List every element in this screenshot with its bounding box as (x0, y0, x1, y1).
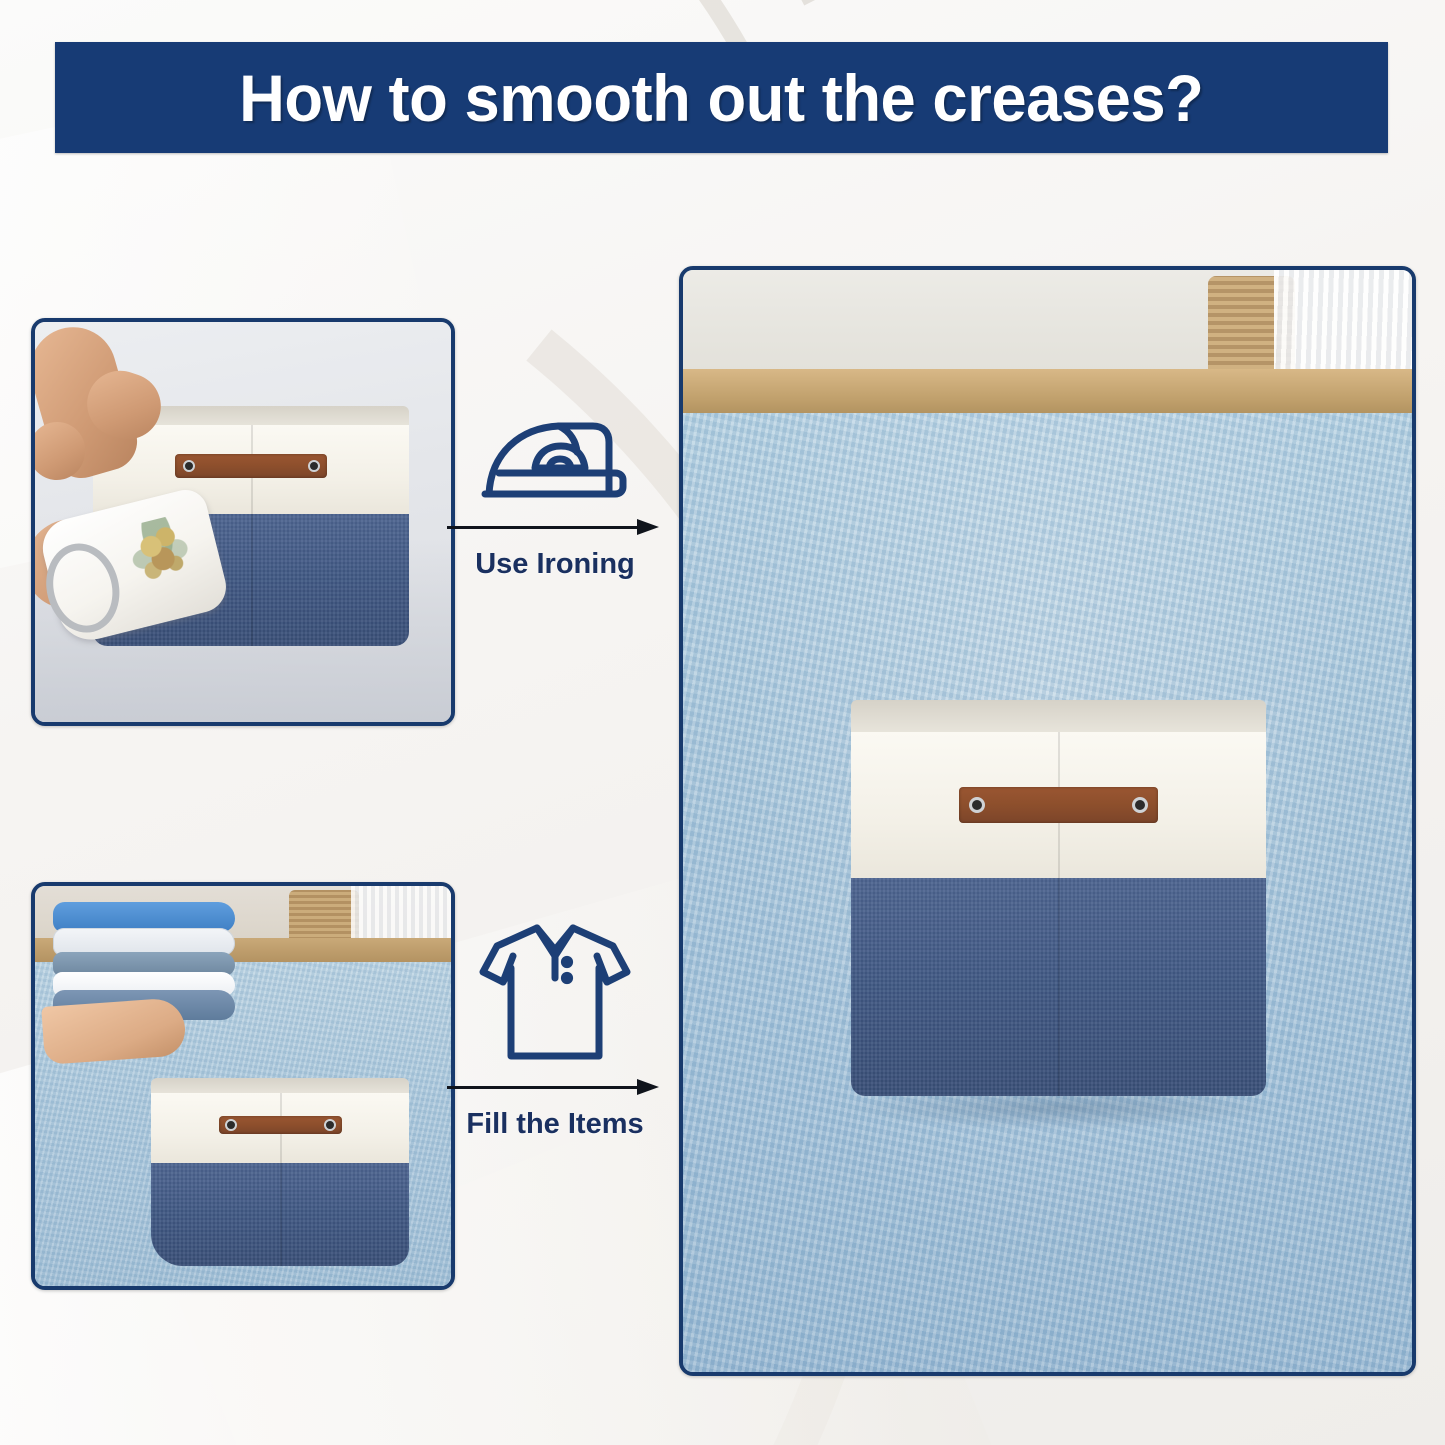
handle-grommet-left (183, 460, 195, 472)
step-use-ironing: Use Ironing (447, 398, 663, 581)
room-scene (35, 886, 451, 1286)
result-photo (679, 266, 1416, 1376)
storage-basket (851, 700, 1267, 1097)
handle-grommet-right (1132, 797, 1148, 813)
basket-leather-handle (219, 1116, 343, 1135)
arrow-head (637, 519, 659, 535)
arrow-line (447, 526, 640, 529)
step-label-use-ironing: Use Ironing (447, 548, 663, 581)
hand-holding-basket (31, 326, 179, 496)
arrow-line (447, 1086, 640, 1089)
handle-grommet-right (308, 460, 320, 472)
title-banner: How to smooth out the creases? (55, 42, 1388, 153)
handle-grommet-right (324, 1119, 336, 1131)
iron-icon (447, 398, 663, 514)
handle-grommet-left (225, 1119, 237, 1131)
studio-backdrop (35, 322, 451, 722)
page-title: How to smooth out the creases? (239, 65, 1203, 131)
hand-holding-clothes (41, 997, 187, 1065)
handle-grommet-left (969, 797, 985, 813)
polo-shirt-icon (447, 912, 663, 1074)
room-scene (683, 270, 1412, 1372)
arrow-head (637, 1079, 659, 1095)
basket-leather-handle (959, 787, 1158, 823)
step-fill-the-items: Fill the Items (447, 912, 663, 1141)
collapsed-storage-basket (151, 1078, 409, 1266)
infographic-page: How to smooth out the creases? (0, 0, 1445, 1445)
iron-step-photo (31, 318, 455, 726)
step-label-fill-the-items: Fill the Items (447, 1108, 663, 1141)
flow-arrow (447, 1074, 663, 1100)
flow-arrow (447, 514, 663, 540)
basket-leather-handle (175, 454, 327, 478)
fill-step-photo (31, 882, 455, 1290)
